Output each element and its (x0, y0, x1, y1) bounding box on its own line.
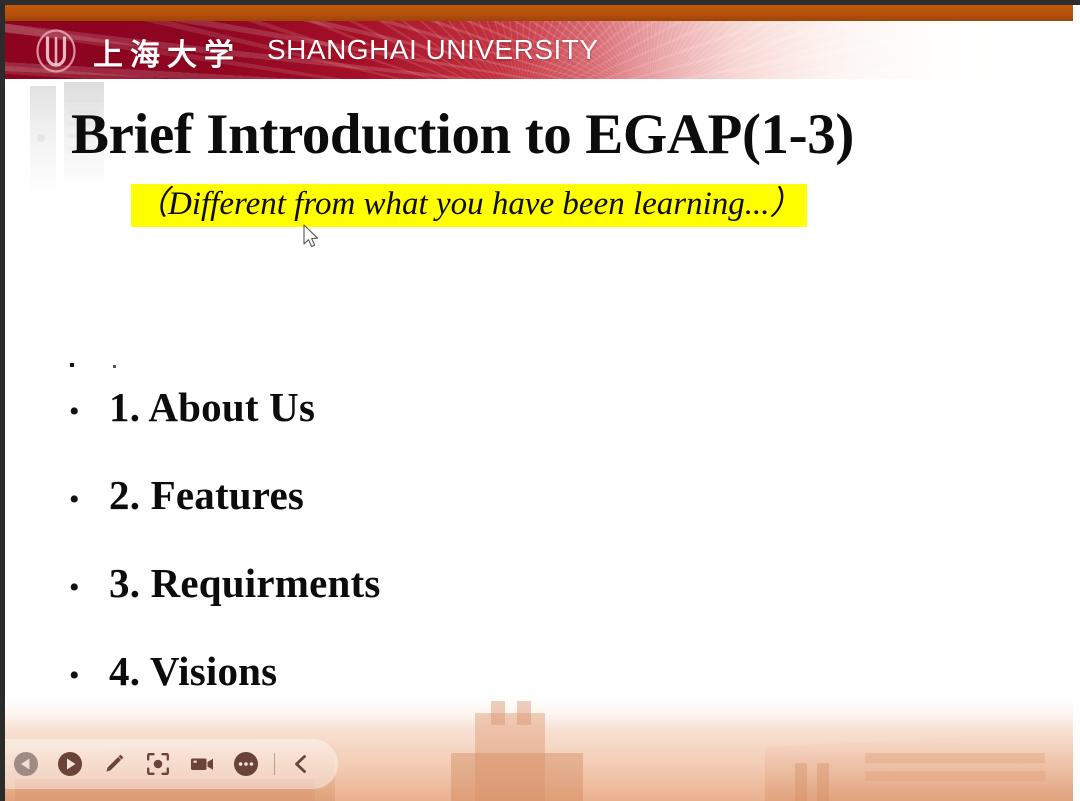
orange-accent-bar (5, 5, 1080, 21)
bullet-marker-icon: • (61, 485, 109, 515)
list-item: • 2. Features (61, 471, 941, 559)
stray-bullet-mark-2 (113, 365, 116, 368)
bullet-label-features: 2. Features (109, 471, 304, 519)
chevron-left-icon (288, 751, 314, 777)
brand-name-chinese: 上海大学 (93, 30, 241, 74)
list-item: • 1. About Us (61, 383, 941, 471)
agenda-bullet-list: • 1. About Us • 2. Features • 3. Requirm… (61, 383, 941, 735)
bullet-marker-icon: • (61, 573, 109, 603)
toolbar-divider (274, 753, 275, 775)
bullet-label-about-us: 1. About Us (109, 383, 315, 431)
frame-edge-right (1073, 0, 1080, 801)
bullet-label-visions: 4. Visions (109, 647, 277, 695)
university-banner: 上海大学 SHANGHAI UNIVERSITY (5, 21, 1080, 79)
capture-frame-icon (145, 751, 171, 777)
play-button[interactable] (48, 742, 92, 786)
more-button[interactable] (224, 742, 268, 786)
pencil-icon (101, 751, 127, 777)
brand-name-english: SHANGHAI UNIVERSITY (267, 34, 599, 66)
bullet-marker-icon: • (61, 397, 109, 427)
collapse-button[interactable] (279, 742, 323, 786)
record-button[interactable] (180, 742, 224, 786)
stray-bullet-mark-1 (70, 363, 74, 367)
list-item: • 4. Visions (61, 647, 941, 735)
play-circle-icon (57, 751, 83, 777)
frame-edge-left (0, 0, 5, 801)
slide-subtitle-container: （Different from what you have been learn… (131, 184, 807, 227)
slide-subtitle-highlighted: （Different from what you have been learn… (131, 184, 807, 227)
slide-title: Brief Introduction to EGAP(1-3) (71, 105, 1031, 164)
frame-edge-top (0, 0, 1080, 5)
shanghai-university-logo-icon (35, 29, 77, 73)
slide-content: Brief Introduction to EGAP(1-3) （Differe… (5, 79, 1073, 796)
bullet-label-requirments: 3. Requirments (109, 559, 381, 607)
more-dots-circle-icon (233, 751, 259, 777)
slide-viewer: 上海大学 SHANGHAI UNIVERSITY Brief Introduc (0, 0, 1080, 801)
screenshot-button[interactable] (136, 742, 180, 786)
stray-bullet-marks (65, 359, 195, 375)
list-item: • 3. Requirments (61, 559, 941, 647)
previous-button[interactable] (4, 742, 48, 786)
player-toolbar[interactable] (0, 739, 338, 789)
bullet-marker-icon: • (61, 661, 109, 691)
annotate-button[interactable] (92, 742, 136, 786)
play-back-circle-icon (13, 751, 39, 777)
video-camera-icon (188, 751, 216, 777)
